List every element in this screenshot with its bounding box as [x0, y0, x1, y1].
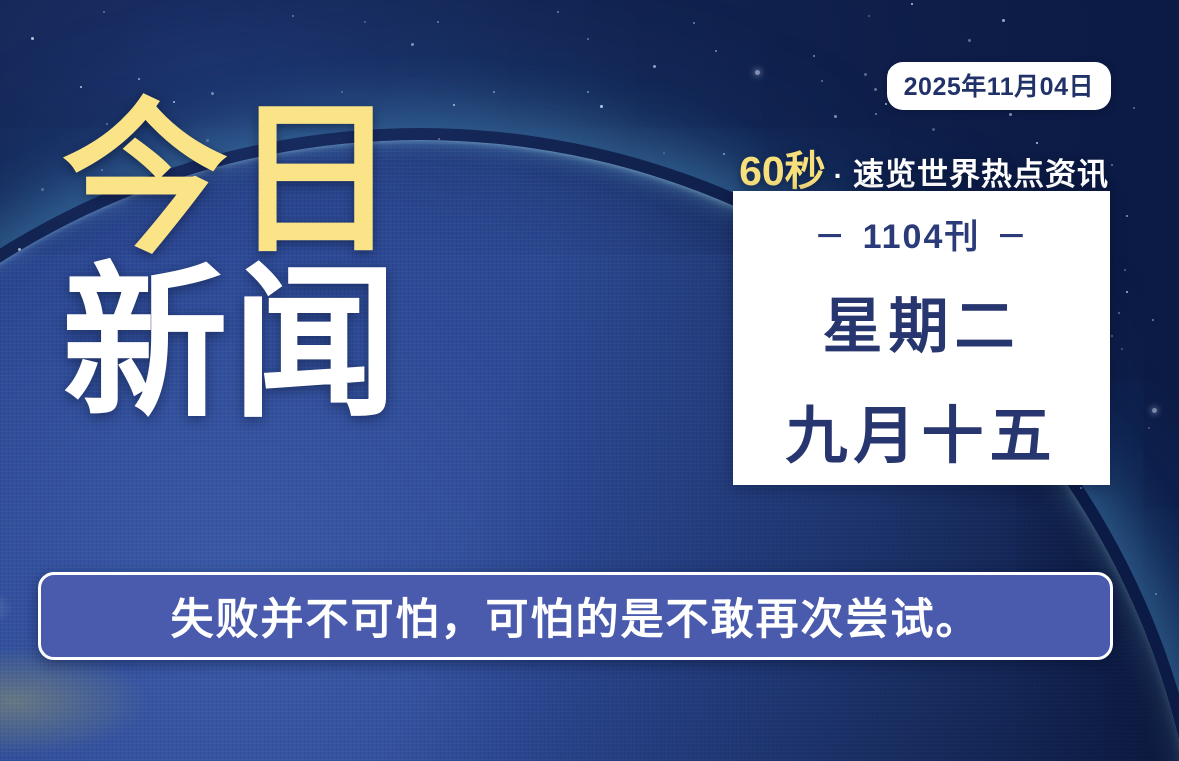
lunar-date-label: 九月十五 — [785, 385, 1057, 475]
issue-row: － 1104刊 － — [815, 209, 1029, 258]
headline-line-news: 新闻 — [62, 268, 402, 422]
info-card: － 1104刊 － 星期二 九月十五 — [733, 191, 1110, 485]
news-poster: 今日 新闻 2025年11月04日 60秒 · 速览世界热点资讯 － 1104刊… — [0, 0, 1179, 761]
page-title: 今日 新闻 — [62, 104, 402, 423]
headline-line-today: 今日 — [62, 104, 402, 258]
issue-number: 1104刊 — [863, 209, 981, 258]
quote-bar: 失败并不可怕，可怕的是不敢再次尝试。 — [38, 572, 1113, 660]
tagline-description: 速览世界热点资讯 — [853, 149, 1109, 194]
tagline-separator-dot: · — [834, 160, 843, 192]
quote-text: 失败并不可怕，可怕的是不敢再次尝试。 — [171, 585, 981, 647]
weekday-label: 星期二 — [823, 278, 1021, 365]
issue-dash-left: － — [815, 212, 847, 256]
tagline: 60秒 · 速览世界热点资讯 — [739, 137, 1109, 197]
date-badge: 2025年11月04日 — [887, 62, 1111, 110]
tagline-sixty-seconds: 60秒 — [739, 137, 826, 197]
issue-dash-right: － — [996, 212, 1028, 256]
